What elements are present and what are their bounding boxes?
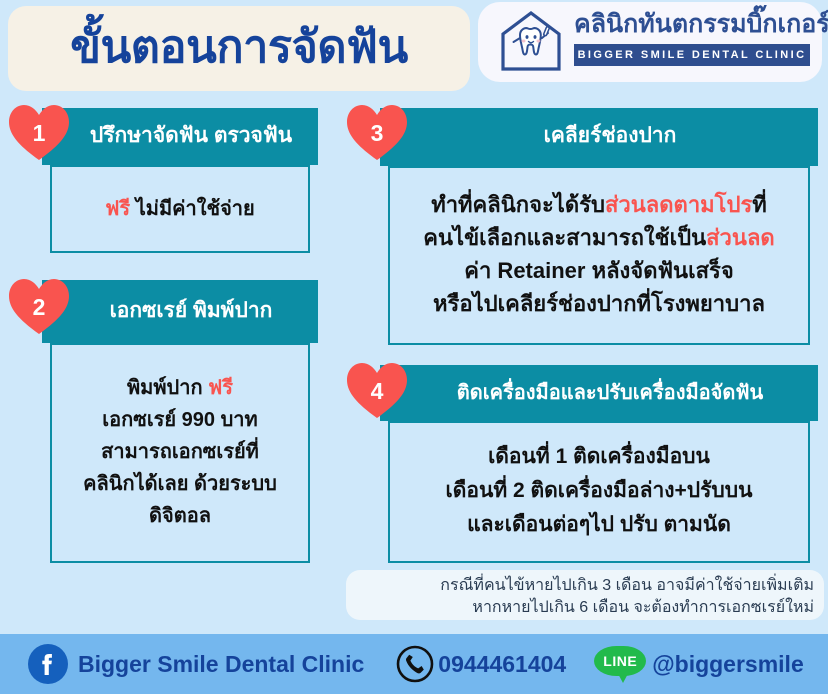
step-3-title: เคลียร์ช่องปาก	[380, 108, 818, 166]
step-4-heart-badge: 4	[346, 361, 408, 419]
footnote-panel: กรณีที่คนไข้หายไปเกิน 3 เดือน อาจมีค่าใช…	[346, 570, 824, 620]
step-2-line-4: คลินิกได้เลย ด้วยระบบ	[58, 468, 302, 500]
step-1-body: ฟรี ไม่มีค่าใช้จ่าย	[50, 165, 310, 253]
highlight-text: ฟรี	[105, 198, 130, 220]
step-3-line-3: ค่า Retainer หลังจัดฟันเสร็จ	[396, 254, 802, 287]
step-2-line-1: พิมพ์ปาก ฟรี	[58, 372, 302, 404]
phone-icon[interactable]	[396, 645, 434, 683]
highlight-text: ฟรี	[208, 377, 233, 399]
footnote-line-2: หากหายไปเกิน 6 เดือน จะต้องทำการเอกซเรย์…	[472, 597, 814, 619]
body-text: ที่	[752, 192, 767, 217]
body-text: ไม่มีค่าใช้จ่าย	[130, 198, 255, 220]
step-1-line-1: ฟรี ไม่มีค่าใช้จ่าย	[58, 192, 302, 224]
step-card-3: เคลียร์ช่องปาก ทำที่คลินิกจะได้รับส่วนลด…	[380, 108, 818, 345]
clinic-logo-panel: คลินิกทันตกรรมบิ๊กเกอร์สไมล์ • BIGGER SM…	[478, 2, 822, 82]
phone-label[interactable]: 0944461404	[438, 651, 566, 678]
step-4-line-2: เดือนที่ 2 ติดเครื่องมือล่าง+ปรับบน	[396, 474, 802, 508]
facebook-contact[interactable]: Bigger Smile Dental Clinic	[28, 644, 364, 684]
facebook-icon[interactable]	[28, 644, 68, 684]
step-2-body: พิมพ์ปาก ฟรี เอกซเรย์ 990 บาท สามารถเอกซ…	[50, 343, 310, 563]
footnote-line-1: กรณีที่คนไข้หายไปเกิน 3 เดือน อาจมีค่าใช…	[440, 575, 814, 597]
step-1-title: ปรึกษาจัดฟัน ตรวจฟัน	[42, 108, 318, 165]
step-2-line-3: สามารถเอกซเรย์ที่	[58, 436, 302, 468]
highlight-text: ส่วนลด	[706, 225, 775, 250]
step-4-body: เดือนที่ 1 ติดเครื่องมือบน เดือนที่ 2 ติ…	[388, 421, 810, 563]
contact-footer: Bigger Smile Dental Clinic 0944461404 LI…	[0, 634, 828, 694]
step-3-line-2: คนไข้เลือกและสามารถใช้เป็นส่วนลด	[396, 221, 802, 254]
step-3-line-1: ทำที่คลินิกจะได้รับส่วนลดตามโปรที่	[396, 188, 802, 221]
line-contact[interactable]: LINE @biggersmile	[594, 646, 804, 682]
step-1-number: 1	[8, 103, 70, 161]
step-2-line-5: ดิจิตอล	[58, 500, 302, 532]
line-icon[interactable]: LINE	[594, 646, 646, 682]
page-title: ขั้นตอนการจัดฟัน	[8, 6, 470, 91]
step-2-line-2: เอกซเรย์ 990 บาท	[58, 404, 302, 436]
tooth-in-house-icon	[498, 8, 564, 74]
step-card-2: เอกซเรย์ พิมพ์ปาก พิมพ์ปาก ฟรี เอกซเรย์ …	[42, 280, 318, 563]
title-panel: ขั้นตอนการจัดฟัน	[8, 6, 470, 91]
phone-contact[interactable]: 0944461404	[396, 645, 566, 683]
step-4-line-3: และเดือนต่อๆไป ปรับ ตามนัด	[396, 508, 802, 542]
step-2-title: เอกซเรย์ พิมพ์ปาก	[42, 280, 318, 343]
step-2-number: 2	[8, 277, 70, 335]
step-4-title: ติดเครื่องมือและปรับเครื่องมือจัดฟัน	[380, 365, 818, 421]
step-card-4: ติดเครื่องมือและปรับเครื่องมือจัดฟัน เดื…	[380, 365, 818, 563]
step-3-line-4: หรือไปเคลียร์ช่องปากที่โรงพยาบาล	[396, 287, 802, 320]
step-3-body: ทำที่คลินิกจะได้รับส่วนลดตามโปรที่ คนไข้…	[388, 166, 810, 345]
infographic-poster: ขั้นตอนการจัดฟัน คลินิกทันตกรรมบิ๊กเกอร์…	[0, 0, 828, 694]
step-3-heart-badge: 3	[346, 103, 408, 161]
step-2-heart-badge: 2	[8, 277, 70, 335]
body-text: พิมพ์ปาก	[127, 377, 208, 399]
body-text: คนไข้เลือกและสามารถใช้เป็น	[423, 225, 706, 250]
step-3-number: 3	[346, 103, 408, 161]
clinic-name-thai: คลินิกทันตกรรมบิ๊กเกอร์สไมล์	[574, 6, 812, 42]
line-label[interactable]: @biggersmile	[652, 651, 804, 678]
facebook-label[interactable]: Bigger Smile Dental Clinic	[78, 651, 364, 678]
body-text: ทำที่คลินิกจะได้รับ	[431, 192, 605, 217]
step-4-number: 4	[346, 361, 408, 419]
highlight-text: ส่วนลดตามโปร	[605, 192, 752, 217]
step-1-heart-badge: 1	[8, 103, 70, 161]
step-card-1: ปรึกษาจัดฟัน ตรวจฟัน ฟรี ไม่มีค่าใช้จ่าย	[42, 108, 318, 253]
clinic-name-english: • BIGGER SMILE DENTAL CLINIC •	[574, 44, 810, 66]
line-badge-label: LINE	[594, 646, 646, 676]
step-4-line-1: เดือนที่ 1 ติดเครื่องมือบน	[396, 440, 802, 474]
